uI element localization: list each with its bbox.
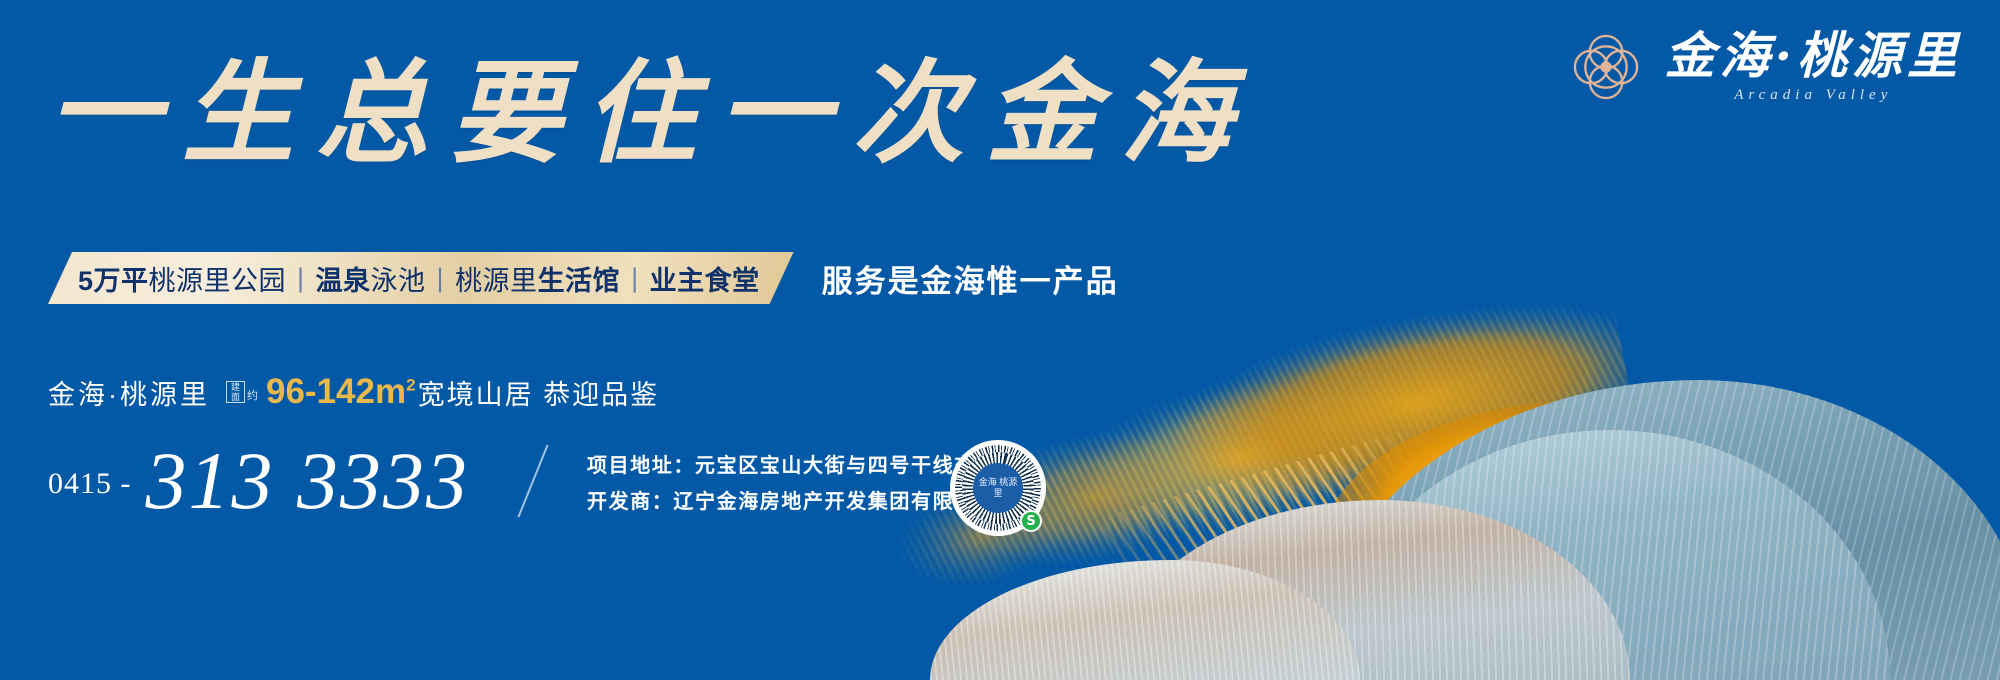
feature-ribbon: 5万平桃源里公园 | 温泉泳池 | 桃源里生活馆 | 业主食堂 [48,252,794,304]
logo-subtitle: Arcadia Valley [1734,87,1892,104]
feature-4-bold2: 食堂 [705,259,760,298]
logo-text-group: 金海·桃源里 Arcadia Valley [1665,30,1962,104]
qr-center-disc: 金海 桃源里 [973,463,1023,513]
built-area-box: 建 面 [226,381,245,403]
diagonal-divider-icon [503,442,561,520]
gold-foil-peak [1320,400,1880,630]
approx-char: 约 [247,387,260,403]
built-area-badge: 建 面 约 [226,381,260,403]
feature-row: 5万平桃源里公园 | 温泉泳池 | 桃源里生活馆 | 业主食堂 服务是金海惟一产… [48,252,1119,304]
feature-1-bold: 5万平 [78,259,149,298]
logo-name: 金海·桃源里 [1665,30,1962,83]
unit-size-superscript: 2 [406,375,415,394]
feature-separator-2: | [437,263,445,294]
feature-4-bold: 业主 [650,259,705,298]
quatrefoil-rosette-icon [1569,30,1643,104]
phone-number[interactable]: 313 3333 [146,440,470,522]
built-area-char-top: 建 [231,382,240,392]
feature-3-bold: 生活馆 [538,259,621,298]
headline-slogan: 一生总要住一次金海 [48,52,1254,175]
project-brand-name: 金海·桃源里 [48,373,210,412]
service-tagline: 服务是金海惟一产品 [822,256,1119,301]
mountain-range-low [930,560,1360,680]
feature-2-bold: 温泉 [316,259,371,298]
wechat-badge-icon: S [1020,510,1042,532]
unit-size-number: 96-142m [266,372,406,411]
phone-area-code: 0415 - [48,467,132,501]
feature-1-normal: 桃源里公园 [149,259,287,298]
wechat-miniprogram-code[interactable]: 金海 桃源里 S [950,440,1046,536]
unit-size-suffix: 宽境山居 恭迎品鉴 [418,373,660,412]
feature-2-normal: 泳池 [371,259,426,298]
unit-size-line: 金海·桃源里 建 面 约 96-142m2 宽境山居 恭迎品鉴 [48,372,659,412]
built-area-char-bottom: 面 [231,392,240,402]
feature-separator-3: | [631,263,639,294]
mountain-range-mid [1330,430,1890,680]
unit-size-value: 96-142m2 [266,372,416,412]
advertisement-banner: 一生总要住一次金海 5万平桃源里公园 | 温泉泳池 | 桃源里生活馆 | 业主食… [0,0,2000,680]
qr-center-label: 金海 桃源里 [976,477,1020,499]
mountain-range-front [1110,500,1630,680]
contact-block: 0415 - 313 3333 项目地址：元宝区宝山大街与四号干线交汇处 开发商… [48,440,1019,522]
feature-separator-1: | [297,263,305,294]
mountain-range-back [1310,380,2000,680]
gold-streak-texture [1100,427,1450,633]
brand-logo: 金海·桃源里 Arcadia Valley [1569,30,1962,104]
feature-3-normal: 桃源里 [455,259,538,298]
